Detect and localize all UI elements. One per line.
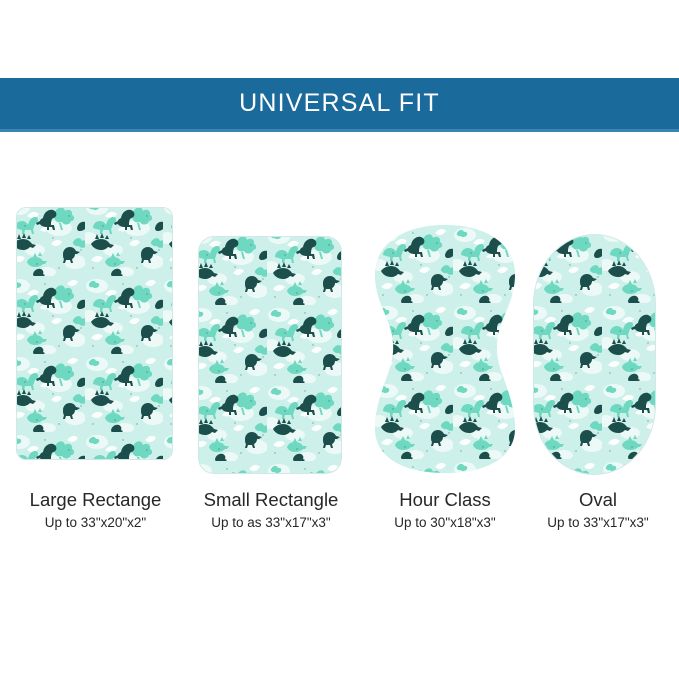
product-hour-glass[interactable]	[375, 225, 515, 473]
label-large-rectangle: Large Rectange Up to 33"x20"x2"	[9, 489, 182, 533]
sheet-small-rectangle	[199, 237, 341, 473]
label-title: Large Rectange	[9, 489, 182, 511]
label-small-rectangle: Small Rectangle Up to as 33"x17"x3"	[186, 489, 356, 533]
dinosaur-print-icon	[199, 237, 341, 473]
product-oval[interactable]	[534, 235, 655, 474]
dinosaur-print-icon	[375, 225, 515, 473]
label-size: Up to 33"x20"x2"	[9, 513, 182, 533]
label-size: Up to 33"x17"x3"	[525, 513, 671, 533]
label-size: Up to as 33"x17"x3"	[186, 513, 356, 533]
label-title: Oval	[525, 489, 671, 511]
label-size: Up to 30"x18"x3"	[364, 513, 526, 533]
product-small-rectangle[interactable]	[199, 237, 341, 473]
sheet-hour-glass	[375, 225, 515, 473]
universal-fit-banner: UNIVERSAL FIT	[0, 78, 679, 132]
label-title: Small Rectangle	[186, 489, 356, 511]
dinosaur-print-icon	[17, 208, 172, 459]
product-infographic: UNIVERSAL FIT	[0, 0, 679, 679]
label-title: Hour Class	[364, 489, 526, 511]
label-oval: Oval Up to 33"x17"x3"	[525, 489, 671, 533]
sheet-large-rectangle	[17, 208, 172, 459]
sheet-oval	[534, 235, 655, 474]
product-large-rectangle[interactable]	[17, 208, 172, 459]
banner-title: UNIVERSAL FIT	[239, 91, 440, 116]
dinosaur-print-icon	[534, 235, 655, 474]
label-hour-glass: Hour Class Up to 30"x18"x3"	[364, 489, 526, 533]
